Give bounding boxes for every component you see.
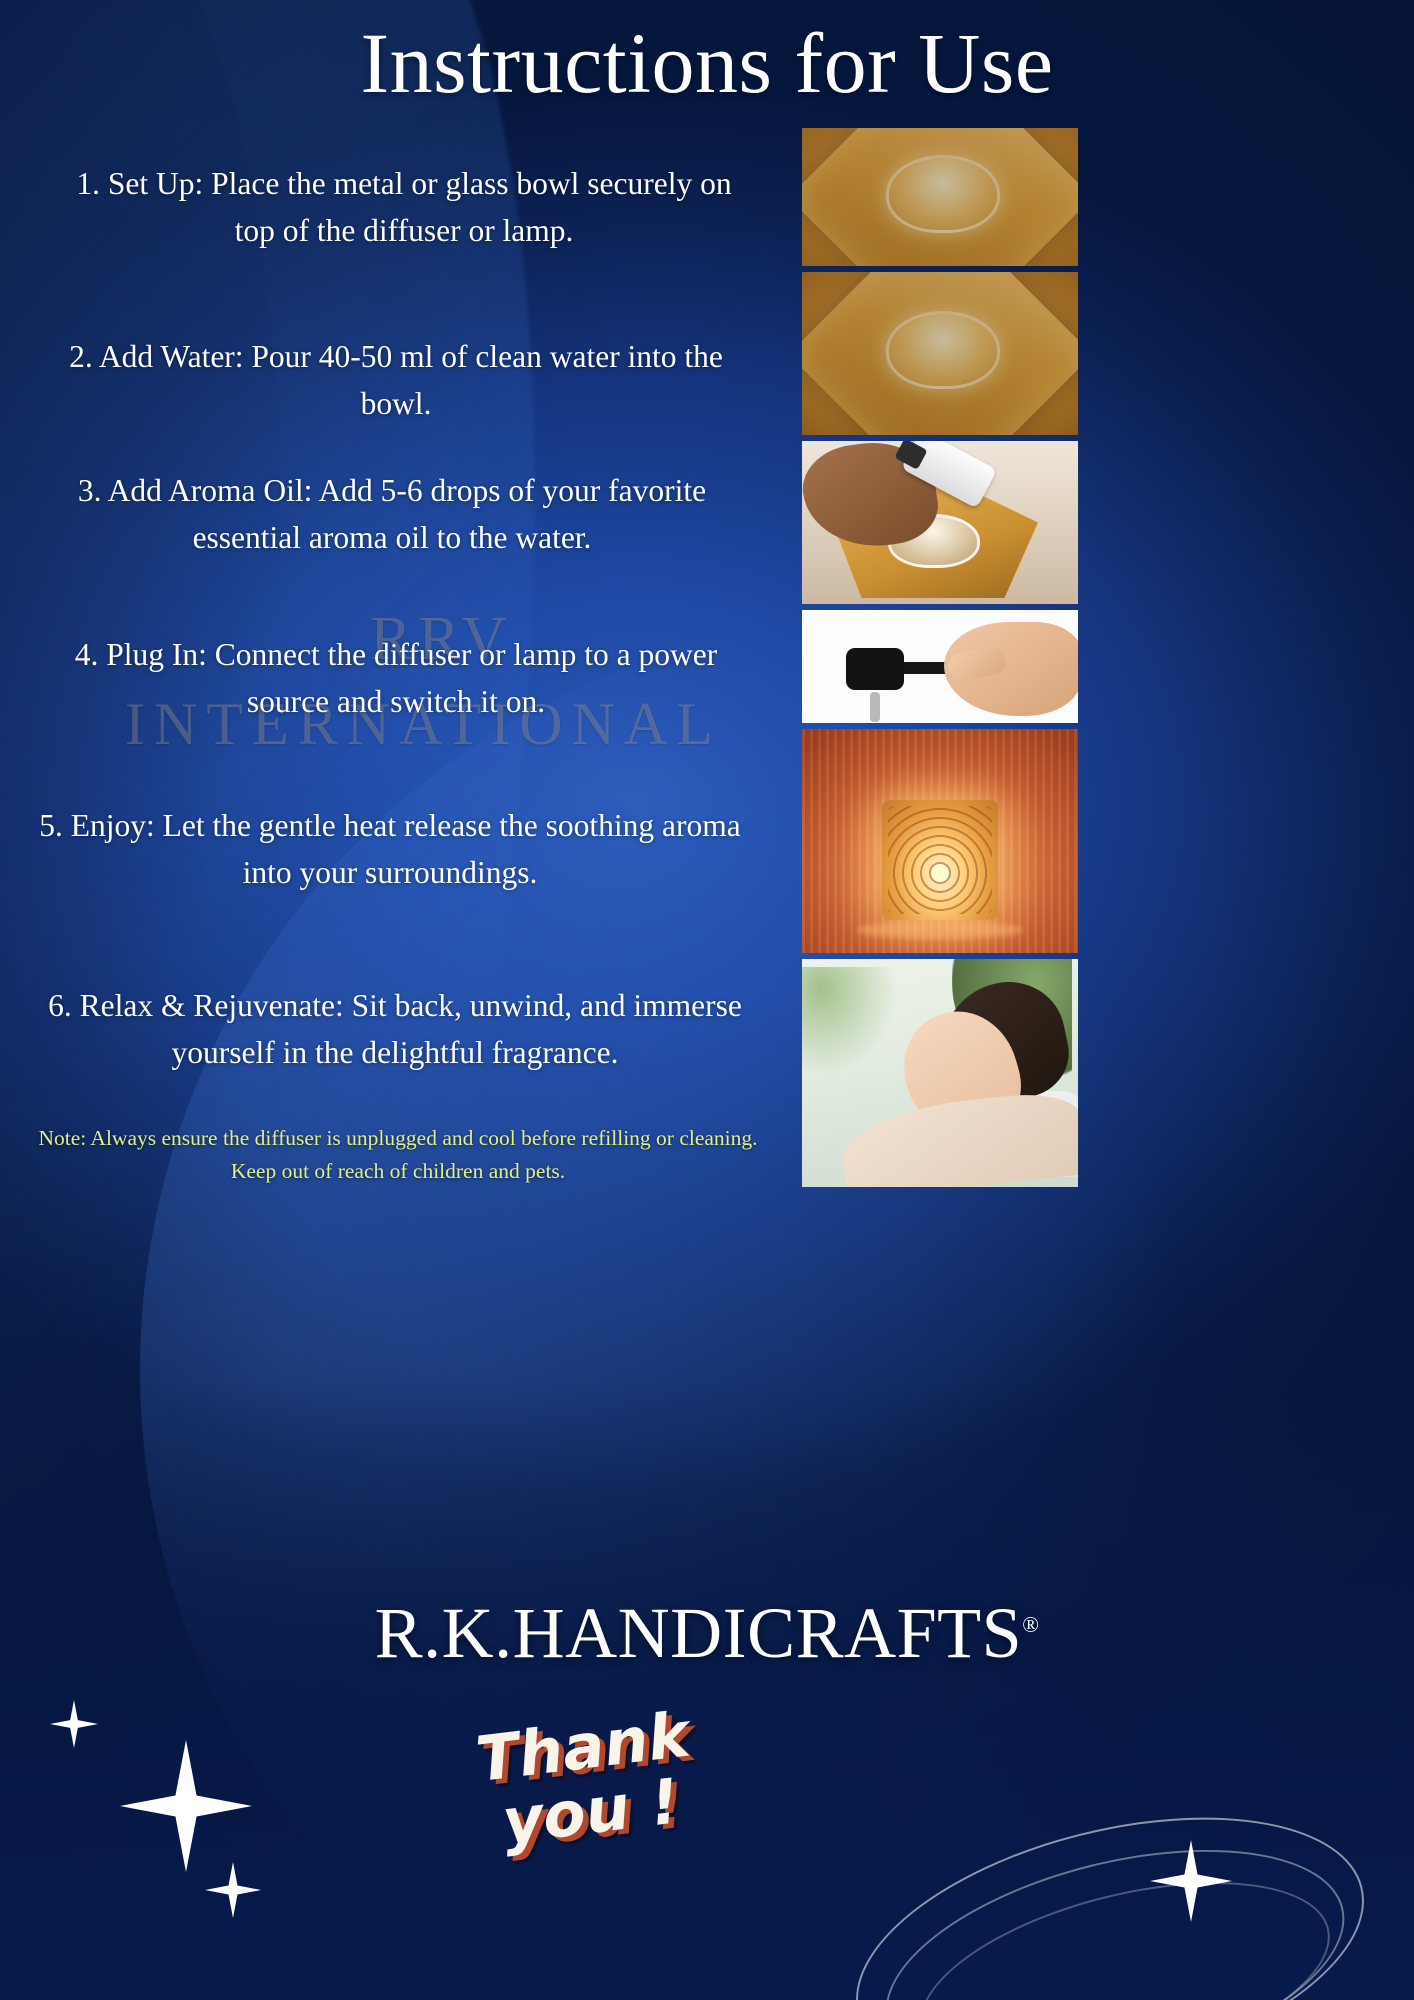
glowing-lamp-body xyxy=(882,800,998,920)
lamp-shade-overlay xyxy=(802,272,1078,435)
plug-pin-left xyxy=(870,692,880,722)
lamp-perforation-pattern xyxy=(888,806,992,914)
instruction-step-5: 5. Enjoy: Let the gentle heat release th… xyxy=(10,802,770,897)
lamp-shade-overlay xyxy=(802,128,1078,266)
photo-column xyxy=(802,128,1078,1187)
poster-canvas: Instructions for Use RRV INTERNATIONAL 1… xyxy=(0,0,1414,2000)
instruction-step-1: 1. Set Up: Place the metal or glass bowl… xyxy=(34,160,774,255)
plug-body xyxy=(846,648,904,690)
photo-adding-aroma-oil xyxy=(802,441,1078,604)
instruction-step-3: 3. Add Aroma Oil: Add 5-6 drops of your … xyxy=(12,467,772,562)
photo-relaxing-woman xyxy=(802,959,1078,1187)
page-title: Instructions for Use xyxy=(0,18,1414,108)
photo-plug-in xyxy=(802,610,1078,723)
thank-you-badge: Thank you ! xyxy=(473,1705,700,1854)
photo-glowing-lamp xyxy=(802,729,1078,953)
instruction-step-4: 4. Plug In: Connect the diffuser or lamp… xyxy=(16,631,776,726)
brand-name-text: R.K.HANDICRAFTS xyxy=(375,1593,1023,1673)
registered-trademark-icon: ® xyxy=(1022,1612,1039,1637)
instruction-step-6: 6. Relax & Rejuvenate: Sit back, unwind,… xyxy=(0,982,790,1077)
photo-lamp-bowl-2 xyxy=(802,272,1078,435)
photo-lamp-bowl-1 xyxy=(802,128,1078,266)
lamp-base-glow xyxy=(856,921,1024,939)
safety-note: Note: Always ensure the diffuser is unpl… xyxy=(18,1122,778,1187)
instruction-step-2: 2. Add Water: Pour 40-50 ml of clean wat… xyxy=(16,333,776,428)
brand-name: R.K.HANDICRAFTS® xyxy=(0,1592,1414,1675)
plant-leaf-left xyxy=(802,967,898,1077)
